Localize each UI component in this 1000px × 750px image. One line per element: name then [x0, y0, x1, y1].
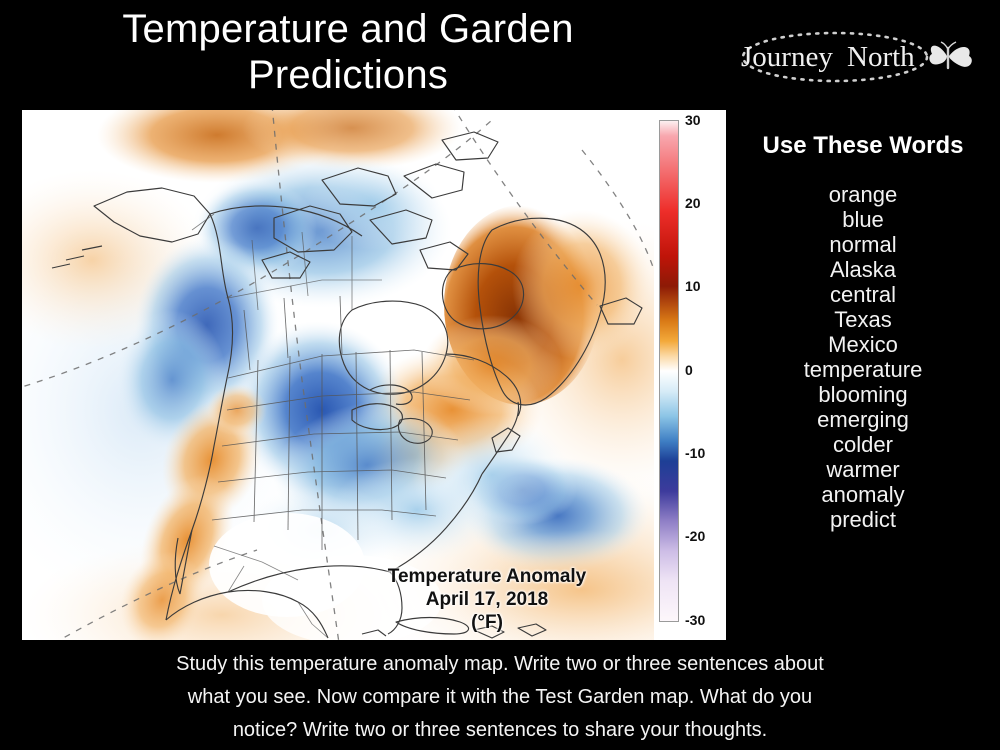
word-central: central [730, 282, 996, 307]
word-orange: orange [730, 182, 996, 207]
instructions-line-3: notice? Write two or three sentences to … [24, 714, 976, 747]
colorbar-tick-30: 30 [685, 112, 701, 128]
word-anomaly: anomaly [730, 482, 996, 507]
page-title: Temperature and Garden Predictions [18, 6, 678, 98]
word-bank: Use These Words orange blue normal Alask… [730, 132, 996, 532]
colorbar: 30 20 10 0 -10 -20 -30 [659, 120, 721, 632]
word-temperature: temperature [730, 357, 996, 382]
word-alaska: Alaska [730, 257, 996, 282]
word-texas: Texas [730, 307, 996, 332]
svg-text:North: North [847, 41, 915, 73]
colorbar-tick-10: 10 [685, 278, 701, 294]
instructions-line-2: what you see. Now compare it with the Te… [24, 681, 976, 714]
colorbar-tick-n20: -20 [685, 528, 705, 544]
word-mexico: Mexico [730, 332, 996, 357]
journey-north-logo: Journey North [735, 26, 985, 88]
colorbar-tick-n10: -10 [685, 445, 705, 461]
word-normal: normal [730, 232, 996, 257]
svg-text:Journey: Journey [741, 41, 833, 73]
instructions: Study this temperature anomaly map. Writ… [24, 648, 976, 747]
word-colder: colder [730, 432, 996, 457]
butterfly-icon [929, 42, 971, 68]
colorbar-gradient [659, 120, 679, 622]
word-bank-heading: Use These Words [730, 132, 996, 160]
anomaly-heatmap [22, 110, 654, 640]
colorbar-tick-n30: -30 [685, 612, 705, 628]
word-blooming: blooming [730, 382, 996, 407]
slide-root: Temperature and Garden Predictions Journ… [0, 0, 1000, 750]
word-blue: blue [730, 207, 996, 232]
word-predict: predict [730, 507, 996, 532]
word-emerging: emerging [730, 407, 996, 432]
colorbar-tick-0: 0 [685, 362, 693, 378]
instructions-line-1: Study this temperature anomaly map. Writ… [24, 648, 976, 681]
word-warmer: warmer [730, 457, 996, 482]
temperature-anomaly-map-panel[interactable]: Temperature Anomaly April 17, 2018 (°F) … [22, 110, 726, 640]
colorbar-tick-20: 20 [685, 195, 701, 211]
